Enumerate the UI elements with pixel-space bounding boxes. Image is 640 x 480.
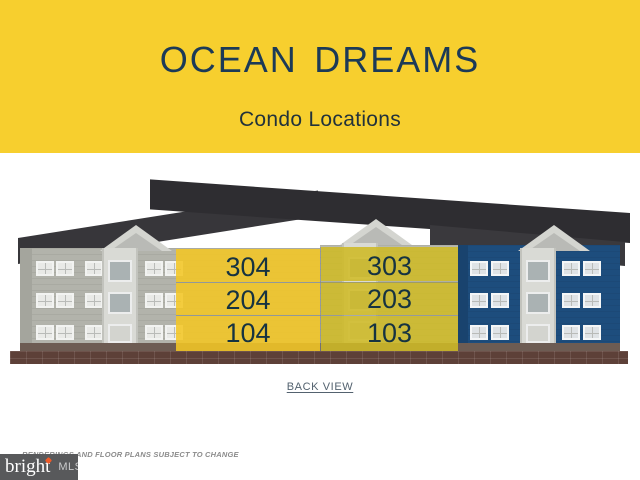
unit-label-303: 303 [321, 251, 458, 281]
window [491, 325, 509, 340]
window [145, 325, 163, 340]
window [562, 325, 580, 340]
window [491, 261, 509, 276]
window [562, 261, 580, 276]
brightmls-brand-text: bright [5, 457, 50, 477]
window [56, 293, 74, 308]
unit-highlight-303[interactable]: 303 [321, 247, 458, 281]
brightmls-accent-dot [45, 457, 52, 464]
window [56, 325, 74, 340]
stairwell-tower-right [520, 248, 556, 343]
unit-highlight-203[interactable]: 203 [321, 282, 458, 315]
window [56, 261, 74, 276]
entry-door [526, 324, 550, 343]
window [583, 293, 601, 308]
window [470, 325, 488, 340]
floor-divider-3-2 [176, 282, 458, 283]
left-wing-wall-shadow [20, 248, 32, 343]
floor-divider-2-1 [176, 315, 458, 316]
right-wing-wall-shadow [458, 245, 468, 343]
window [36, 293, 54, 308]
brightmls-suffix-text: MLS [58, 461, 78, 473]
brick-base [10, 351, 628, 364]
page-title: Ocean Dreams [0, 24, 640, 86]
window [583, 325, 601, 340]
window [85, 293, 103, 308]
unit-label-104: 104 [176, 318, 320, 348]
window [145, 293, 163, 308]
window [491, 293, 509, 308]
stairwell-window [526, 292, 550, 314]
window [583, 261, 601, 276]
back-view-caption: BACK VIEW [0, 381, 640, 393]
unit-label-204: 204 [176, 285, 320, 315]
unit-highlight-304[interactable]: 304 [176, 249, 320, 282]
back-view-label: BACK VIEW [287, 381, 354, 393]
stairwell-window [526, 260, 550, 282]
window [562, 293, 580, 308]
unit-label-103: 103 [321, 318, 458, 348]
entry-door [108, 324, 132, 343]
stairwell-tower-left [102, 248, 138, 343]
brightmls-watermark: bright MLS [0, 454, 78, 480]
window [36, 261, 54, 276]
window [470, 293, 488, 308]
stack-divider [320, 247, 321, 351]
unit-label-304: 304 [176, 252, 320, 282]
window [36, 325, 54, 340]
window [470, 261, 488, 276]
window [145, 261, 163, 276]
building-rendering: 304 204 104 303 203 103 [0, 153, 640, 378]
window [85, 325, 103, 340]
stairwell-window [108, 292, 132, 314]
unit-label-203: 203 [321, 284, 458, 314]
page-subtitle: Condo Locations [0, 106, 640, 134]
header-banner: Ocean Dreams Condo Locations [0, 0, 640, 153]
stairwell-window [108, 260, 132, 282]
window [85, 261, 103, 276]
unit-highlight-103[interactable]: 103 [321, 316, 458, 351]
unit-highlight-104[interactable]: 104 [176, 316, 320, 351]
unit-highlight-204[interactable]: 204 [176, 283, 320, 315]
